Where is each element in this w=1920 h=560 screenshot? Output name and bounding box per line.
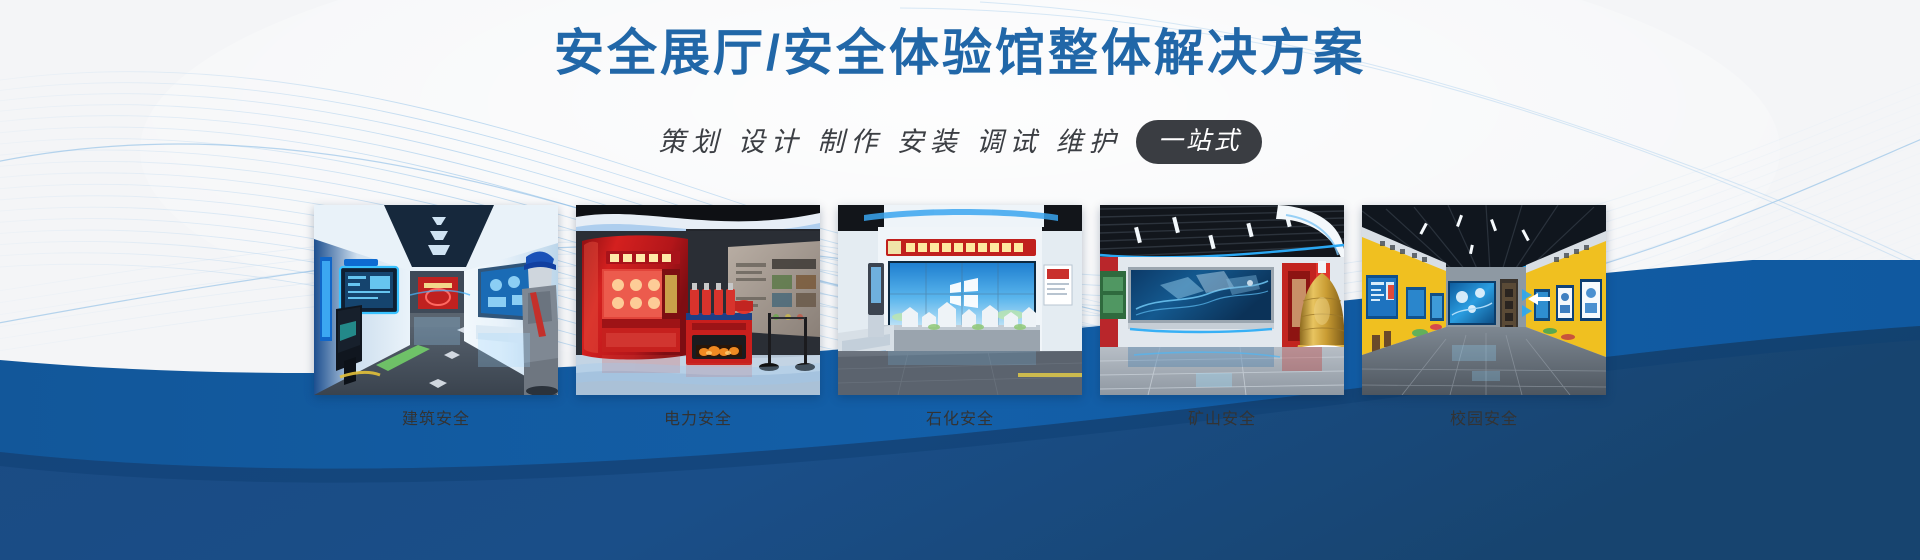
service-steps-text: 策划 设计 制作 安装 调试 维护 (658, 123, 1122, 161)
electric-power-safety-thumbnail[interactable] (576, 205, 820, 395)
campus-safety-thumbnail[interactable] (1362, 205, 1606, 395)
service-steps-row: 策划 设计 制作 安装 调试 维护 一站式 (0, 120, 1920, 164)
case-card-mine[interactable]: 矿山安全 (1100, 205, 1344, 431)
petrochemical-safety-thumbnail[interactable] (838, 205, 1082, 395)
case-caption: 电力安全 (576, 409, 820, 431)
case-caption: 建筑安全 (314, 409, 558, 431)
safety-exhibition-banner: 安全展厅/安全体验馆整体解决方案 策划 设计 制作 安装 调试 维护 一站式 (0, 0, 1920, 560)
one-stop-badge: 一站式 (1136, 120, 1262, 164)
case-caption: 石化安全 (838, 409, 1082, 431)
case-thumbnail-list: 建筑安全 (0, 205, 1920, 431)
case-card-power[interactable]: 电力安全 (576, 205, 820, 431)
page-title: 安全展厅/安全体验馆整体解决方案 (0, 22, 1920, 84)
case-caption: 校园安全 (1362, 409, 1606, 431)
case-card-construction[interactable]: 建筑安全 (314, 205, 558, 431)
case-card-petrochemical[interactable]: 石化安全 (838, 205, 1082, 431)
construction-safety-thumbnail[interactable] (314, 205, 558, 395)
mine-safety-thumbnail[interactable] (1100, 205, 1344, 395)
case-caption: 矿山安全 (1100, 409, 1344, 431)
case-card-campus[interactable]: 校园安全 (1362, 205, 1606, 431)
